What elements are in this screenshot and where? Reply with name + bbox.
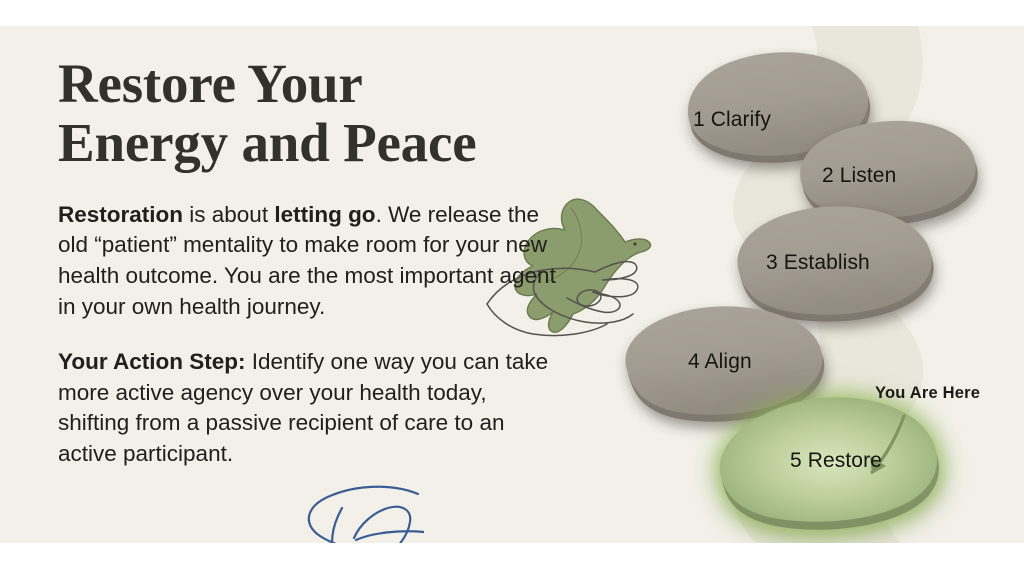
stone-label-2[interactable]: 2 Listen bbox=[822, 164, 896, 188]
stone-label-5[interactable]: 5 Restore bbox=[790, 449, 882, 473]
stone-label-1[interactable]: 1 Clarify bbox=[693, 108, 771, 132]
slide-background: 1 Clarify 2 Listen 3 Establish 4 Align 5… bbox=[0, 26, 1024, 543]
stone-label-4[interactable]: 4 Align bbox=[688, 350, 752, 374]
stone-label-3[interactable]: 3 Establish bbox=[766, 251, 870, 275]
page-title: Restore Your Energy and Peace bbox=[58, 54, 578, 173]
you-are-here-label: You Are Here bbox=[875, 384, 980, 403]
emphasis-text: Restoration bbox=[58, 202, 183, 227]
body-paragraph-action-step: Your Action Step: Identify one way you c… bbox=[58, 347, 558, 469]
stepping-stone-path: 1 Clarify 2 Listen 3 Establish 4 Align 5… bbox=[600, 26, 1024, 543]
body-text: is about bbox=[183, 202, 274, 227]
signature-mark bbox=[298, 478, 424, 543]
slide-canvas: 1 Clarify 2 Listen 3 Establish 4 Align 5… bbox=[0, 0, 1024, 572]
emphasis-text: letting go bbox=[274, 202, 375, 227]
text-column: Restore Your Energy and Peace Restoratio… bbox=[58, 54, 578, 470]
emphasis-text: Your Action Step: bbox=[58, 349, 246, 374]
body-paragraph-restoration: Restoration is about letting go. We rele… bbox=[58, 200, 558, 322]
